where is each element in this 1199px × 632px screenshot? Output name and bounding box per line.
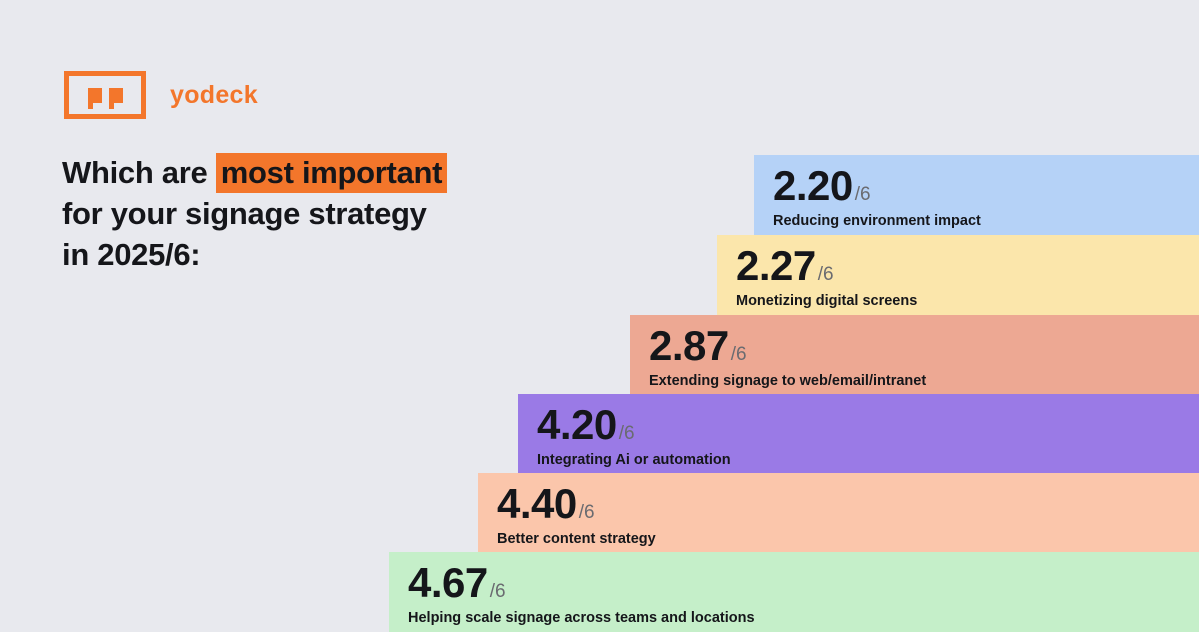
bar-value: 2.87 /6 <box>649 325 747 367</box>
bar-denominator: /6 <box>579 503 595 522</box>
bar-score: 2.27 <box>736 245 816 287</box>
bar-value: 4.40 /6 <box>497 483 595 525</box>
bar-category-label: Extending signage to web/email/intranet <box>649 374 926 389</box>
bar-denominator: /6 <box>490 582 506 601</box>
bar-score: 2.20 <box>773 165 853 207</box>
bar-score: 4.40 <box>497 483 577 525</box>
bar-score: 4.67 <box>408 562 488 604</box>
bar-value: 4.67 /6 <box>408 562 506 604</box>
bar-category-label: Helping scale signage across teams and l… <box>408 611 755 626</box>
bar-value: 2.27 /6 <box>736 245 834 287</box>
bar-row: 4.67 /6 Helping scale signage across tea… <box>389 552 1199 632</box>
bar-value: 2.20 /6 <box>773 165 871 207</box>
bar-chart: 2.20 /6 Reducing environment impact 2.27… <box>0 0 1199 632</box>
bar-category-label: Reducing environment impact <box>773 214 981 229</box>
bar-score: 2.87 <box>649 325 729 367</box>
bar-category-label: Integrating Ai or automation <box>537 453 731 468</box>
bar-row: 4.40 /6 Better content strategy <box>478 473 1199 553</box>
bar-category-label: Better content strategy <box>497 532 656 547</box>
bar-row: 2.27 /6 Monetizing digital screens <box>717 235 1199 315</box>
bar-denominator: /6 <box>619 424 635 443</box>
bar-denominator: /6 <box>855 185 871 204</box>
infographic-canvas: yodeck Which are most important for your… <box>0 0 1199 632</box>
bar-denominator: /6 <box>731 345 747 364</box>
bar-denominator: /6 <box>818 265 834 284</box>
bar-category-label: Monetizing digital screens <box>736 294 917 309</box>
bar-score: 4.20 <box>537 404 617 446</box>
bar-value: 4.20 /6 <box>537 404 635 446</box>
bar-row: 4.20 /6 Integrating Ai or automation <box>518 394 1199 474</box>
bar-row: 2.20 /6 Reducing environment impact <box>754 155 1199 235</box>
bar-row: 2.87 /6 Extending signage to web/email/i… <box>630 315 1199 395</box>
